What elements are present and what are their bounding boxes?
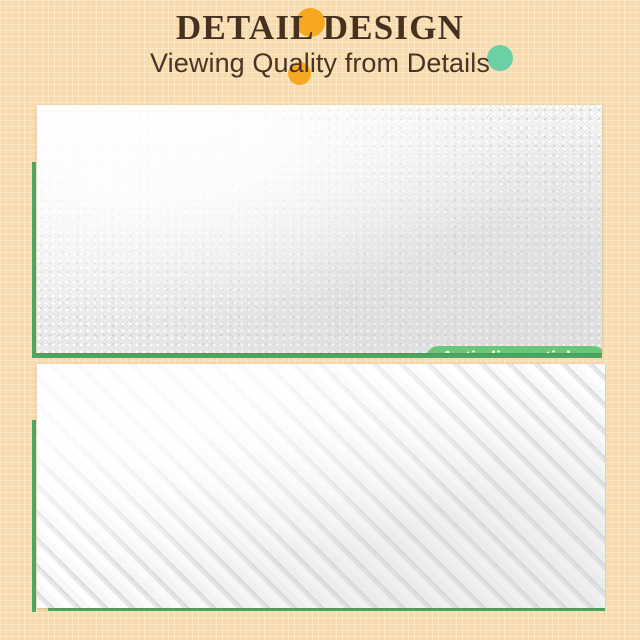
chevron-fabric-texture: [37, 364, 605, 608]
callout-anti-slip-pill: Anti slip particles: [426, 346, 602, 353]
page-subtitle: Viewing Quality from Details: [0, 47, 640, 79]
callout-anti-slip: Anti slip particles Increase friction an…: [426, 346, 602, 353]
page-title: DETAIL DESIGN: [0, 9, 640, 47]
product-photo-quilted-fabric: High quality fabric Strong durable good …: [37, 364, 605, 608]
header-section: DETAIL DESIGN Viewing Quality from Detai…: [0, 0, 640, 100]
panel-one-bottom-accent-bar: [32, 353, 602, 358]
product-photo-anti-slip: Anti slip particles Increase friction an…: [37, 105, 602, 353]
infographic-page: DETAIL DESIGN Viewing Quality from Detai…: [0, 0, 640, 640]
dotted-fabric-texture: [37, 105, 602, 353]
panel-two-left-accent-bar: [32, 420, 36, 612]
panel-one-left-accent-bar: [32, 162, 36, 358]
